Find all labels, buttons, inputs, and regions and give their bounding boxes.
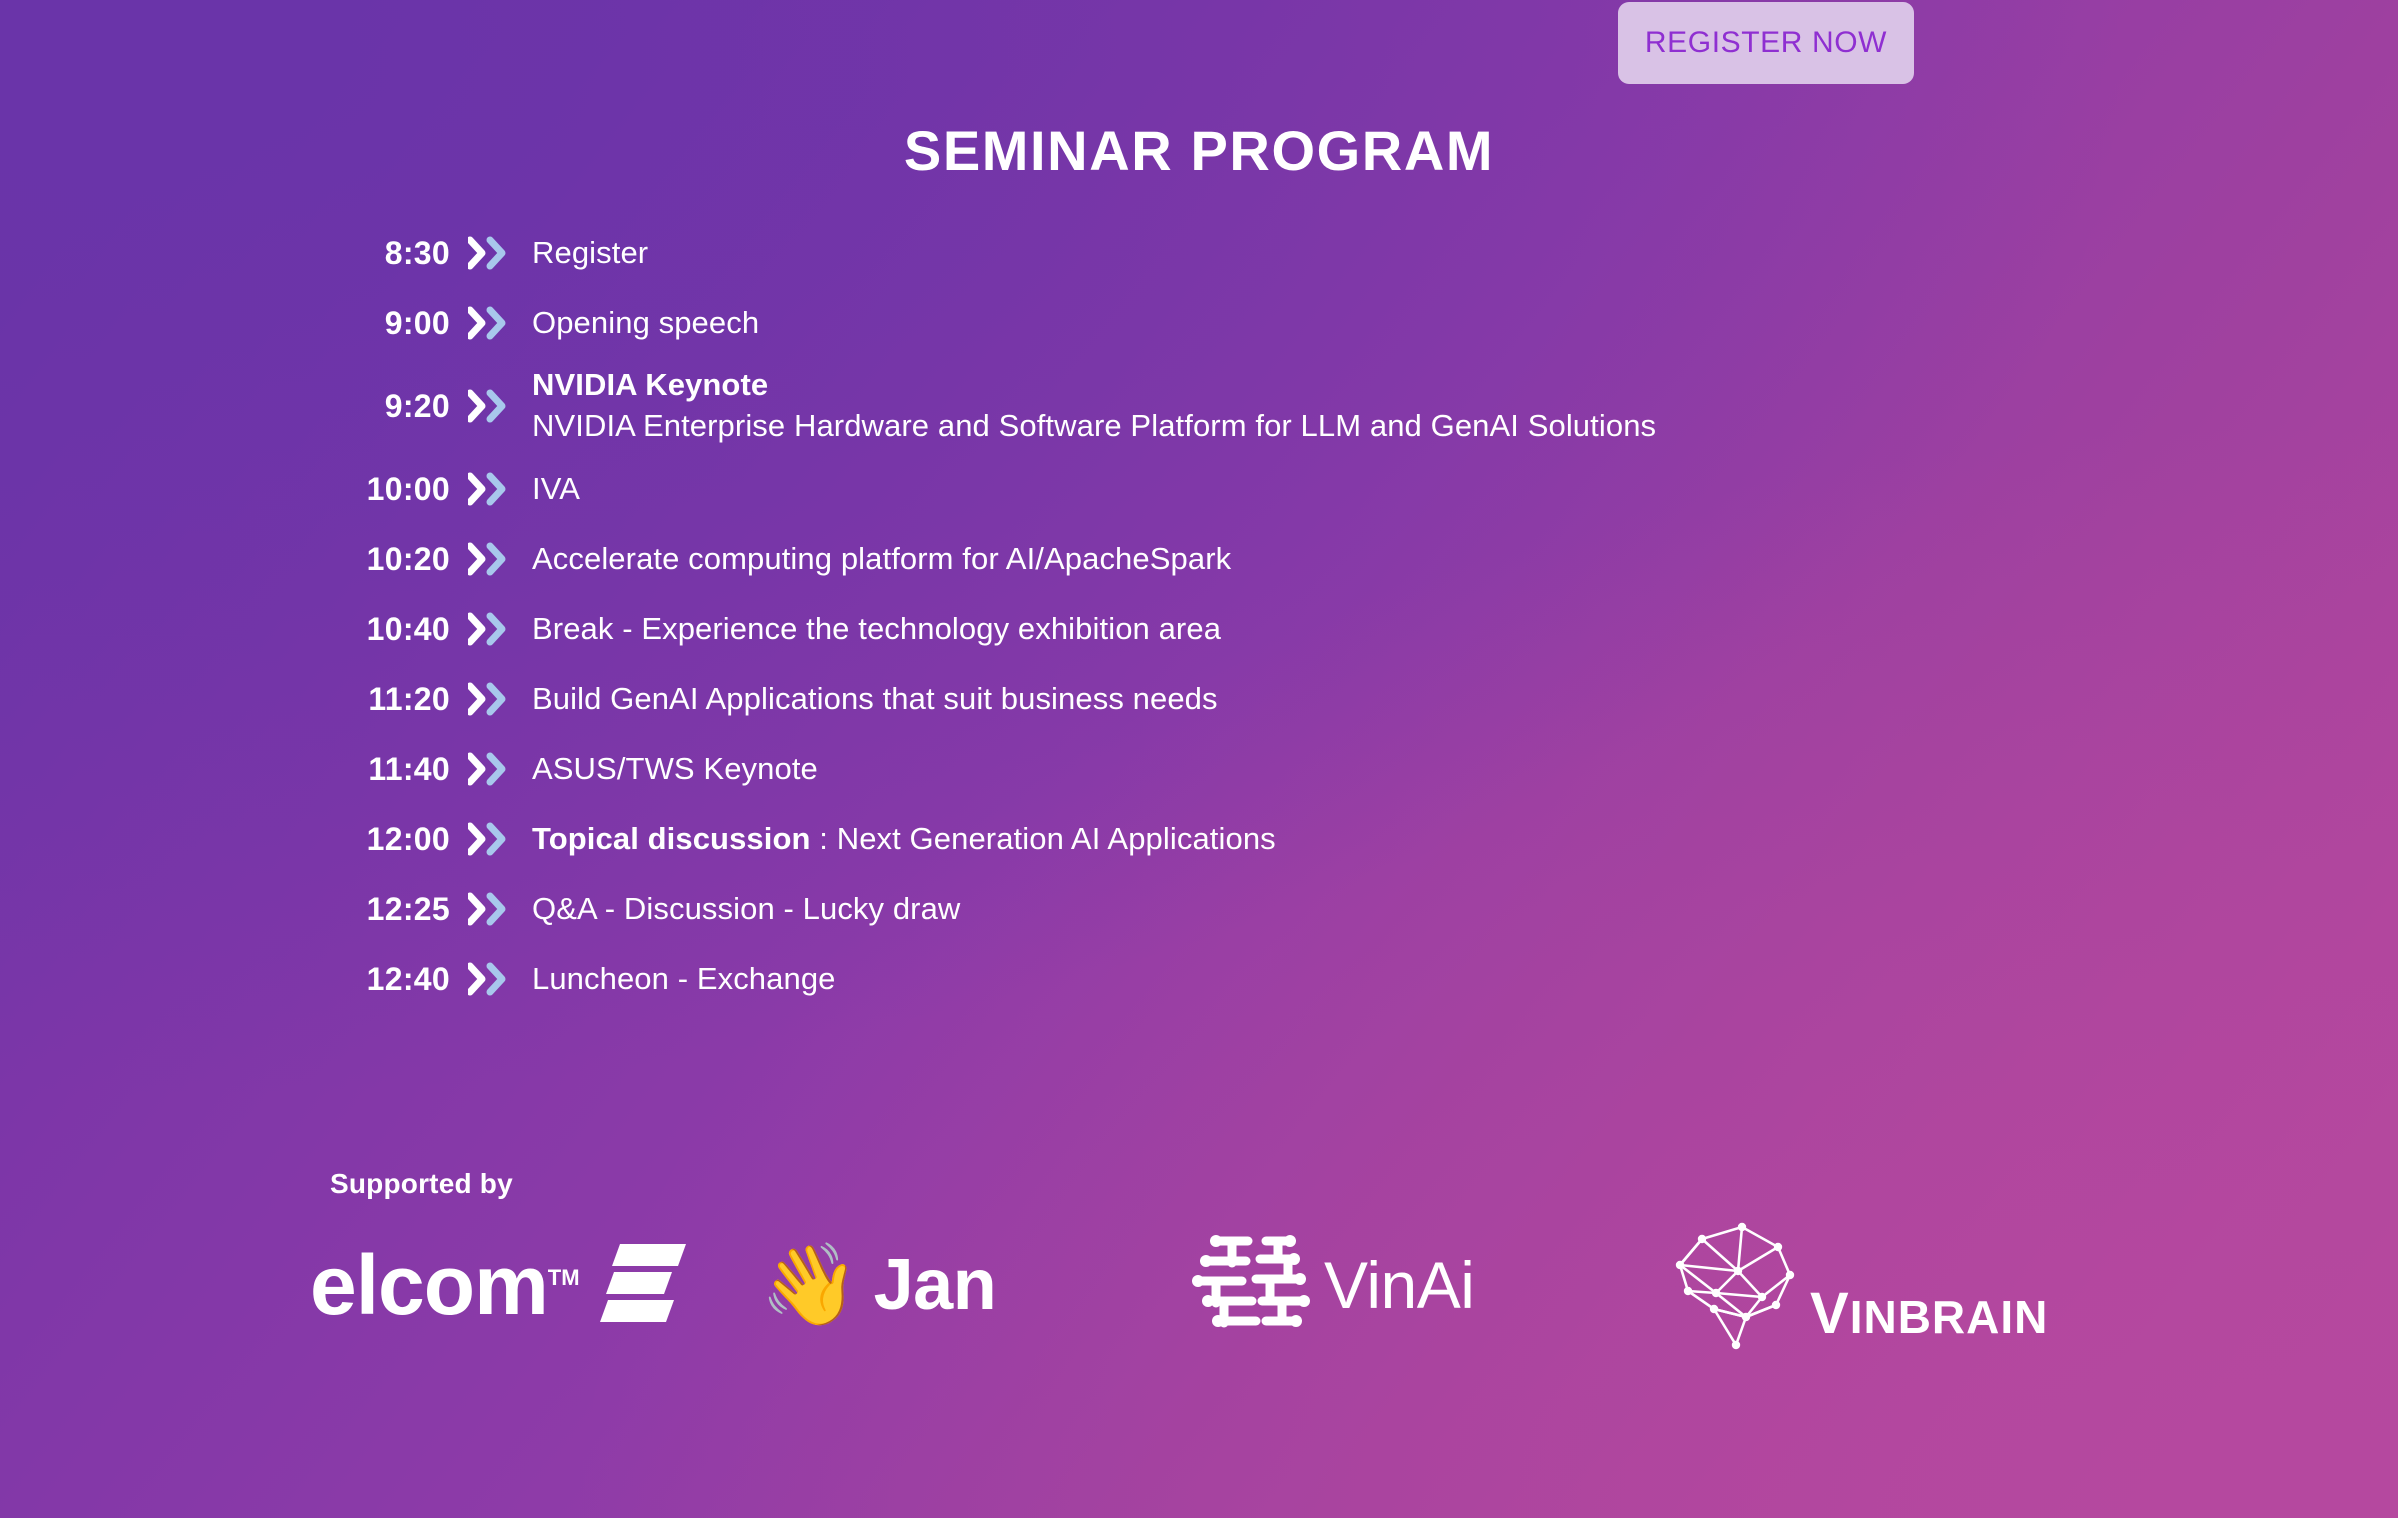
row-time: 11:40: [330, 751, 450, 788]
double-chevron-right-icon: [450, 472, 532, 506]
row-time: 12:40: [330, 961, 450, 998]
double-chevron-right-icon: [450, 389, 532, 423]
brain-network-icon: [1650, 1213, 1830, 1358]
double-chevron-right-icon: [450, 542, 532, 576]
logo-vinbrain: VINBRAIN: [1620, 1215, 2070, 1355]
row-text: Luncheon - Exchange: [532, 959, 836, 1000]
row-time: 9:20: [330, 388, 450, 425]
vinai-wordmark: VinAi: [1324, 1247, 1474, 1323]
schedule-list: 8:30 Register 9:00 Opening speech 9:20 N…: [0, 218, 2398, 1014]
schedule-row: 10:20 Accelerate computing platform for …: [0, 524, 2398, 594]
jan-wordmark: Jan: [874, 1244, 997, 1326]
double-chevron-right-icon: [450, 822, 532, 856]
elcom-e-mark-icon: [594, 1240, 690, 1331]
schedule-row: 12:40 Luncheon - Exchange: [0, 944, 2398, 1014]
vinbrain-wordmark-rest: INBRAIN: [1850, 1291, 2049, 1343]
row-text: Accelerate computing platform for AI/Apa…: [532, 539, 1231, 580]
row-time: 10:40: [330, 611, 450, 648]
row-time: 11:20: [330, 681, 450, 718]
register-now-button[interactable]: REGISTER NOW: [1618, 2, 1914, 84]
row-subtext: NVIDIA Enterprise Hardware and Software …: [532, 406, 1656, 447]
row-bold-prefix: Topical discussion: [532, 821, 811, 856]
schedule-row: 11:20 Build GenAI Applications that suit…: [0, 664, 2398, 734]
supporter-logos: elcomTM 👋 Jan: [310, 1215, 2170, 1355]
schedule-row: 10:00 IVA: [0, 454, 2398, 524]
row-text: NVIDIA Keynote NVIDIA Enterprise Hardwar…: [532, 365, 1656, 447]
elcom-wordmark: elcom: [310, 1238, 548, 1332]
row-text: Topical discussion : Next Generation AI …: [532, 819, 1276, 860]
vinbrain-wordmark-cap: V: [1810, 1281, 1850, 1346]
row-time: 10:00: [330, 471, 450, 508]
waving-hand-icon: 👋: [760, 1245, 860, 1325]
schedule-row: 12:25 Q&A - Discussion - Lucky draw: [0, 874, 2398, 944]
double-chevron-right-icon: [450, 236, 532, 270]
double-chevron-right-icon: [450, 962, 532, 996]
schedule-row: 9:00 Opening speech: [0, 288, 2398, 358]
row-time: 12:00: [330, 821, 450, 858]
row-text: Register: [532, 233, 648, 274]
double-chevron-right-icon: [450, 306, 532, 340]
logo-vinai: VinAi: [1180, 1215, 1620, 1355]
schedule-row: 10:40 Break - Experience the technology …: [0, 594, 2398, 664]
schedule-row: 8:30 Register: [0, 218, 2398, 288]
row-text: Q&A - Discussion - Lucky draw: [532, 889, 960, 930]
row-time: 8:30: [330, 235, 450, 272]
schedule-row: 9:20 NVIDIA Keynote NVIDIA Enterprise Ha…: [0, 358, 2398, 454]
row-text-rest: : Next Generation AI Applications: [811, 821, 1276, 856]
seminar-program-slide: REGISTER NOW SEMINAR PROGRAM 8:30 Regist…: [0, 0, 2398, 1518]
double-chevron-right-icon: [450, 752, 532, 786]
double-chevron-right-icon: [450, 612, 532, 646]
row-time: 9:00: [330, 305, 450, 342]
row-text: Opening speech: [532, 303, 759, 344]
trademark-symbol: TM: [548, 1265, 580, 1290]
schedule-row: 11:40 ASUS/TWS Keynote: [0, 734, 2398, 804]
double-chevron-right-icon: [450, 682, 532, 716]
row-text: IVA: [532, 469, 580, 510]
row-time: 10:20: [330, 541, 450, 578]
vinai-network-mark-icon: [1190, 1229, 1312, 1342]
logo-elcom: elcomTM: [310, 1215, 740, 1355]
page-title: SEMINAR PROGRAM: [0, 118, 2398, 183]
double-chevron-right-icon: [450, 892, 532, 926]
row-text: ASUS/TWS Keynote: [532, 749, 818, 790]
row-text: Break - Experience the technology exhibi…: [532, 609, 1221, 650]
row-heading: NVIDIA Keynote: [532, 365, 1656, 406]
logo-jan: 👋 Jan: [740, 1215, 1180, 1355]
schedule-row: 12:00 Topical discussion : Next Generati…: [0, 804, 2398, 874]
supported-by-label: Supported by: [330, 1168, 513, 1200]
row-time: 12:25: [330, 891, 450, 928]
row-text: Build GenAI Applications that suit busin…: [532, 679, 1218, 720]
